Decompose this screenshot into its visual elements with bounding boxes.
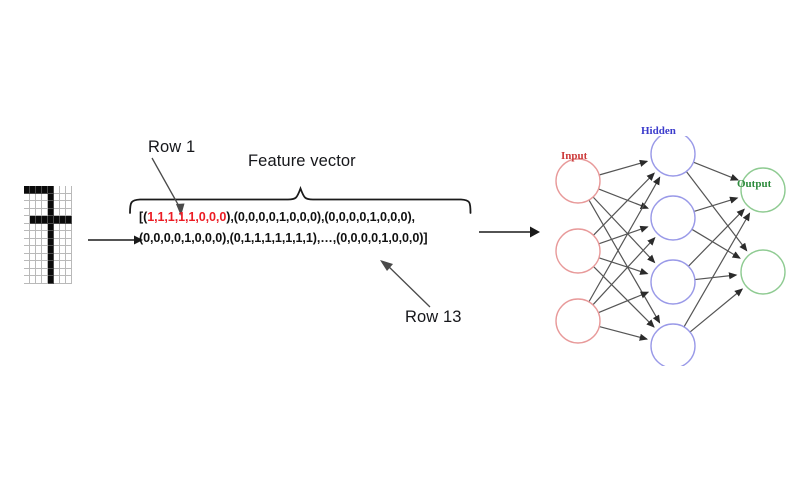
bitmap-cell bbox=[66, 239, 72, 247]
bitmap-cell bbox=[66, 194, 72, 202]
feature-vector-row1-highlight: 1,1,1,1,1,0,0,0 bbox=[147, 210, 226, 224]
network-node-input bbox=[556, 229, 600, 273]
feature-vector-line-1: [(1,1,1,1,1,0,0,0),(0,0,0,0,1,0,0,0),(0,… bbox=[139, 207, 469, 228]
network-edge bbox=[693, 162, 738, 180]
bitmap-cell bbox=[66, 186, 72, 194]
network-node-hidden bbox=[651, 324, 695, 366]
feature-vector-text: [(1,1,1,1,1,0,0,0),(0,0,0,0,1,0,0,0),(0,… bbox=[139, 207, 469, 249]
bitmap-cell bbox=[66, 269, 72, 277]
arrow-vector-to-network bbox=[479, 220, 541, 244]
network-edge bbox=[589, 177, 660, 301]
bitmap-cell bbox=[66, 224, 72, 232]
network-edge bbox=[598, 292, 648, 312]
network-node-hidden bbox=[651, 196, 695, 240]
network-node-hidden bbox=[651, 260, 695, 304]
network-edge bbox=[589, 200, 660, 323]
network-input-label: Input bbox=[561, 150, 587, 162]
network-node-output bbox=[741, 168, 785, 212]
neural-network-diagram bbox=[548, 136, 798, 366]
network-edge bbox=[593, 238, 655, 305]
network-hidden-label: Hidden bbox=[641, 125, 676, 137]
network-edge bbox=[695, 275, 736, 280]
character-bitmap-grid bbox=[24, 186, 72, 284]
bitmap-cell bbox=[66, 209, 72, 217]
label-row-1: Row 1 bbox=[148, 138, 195, 157]
network-edge bbox=[690, 289, 742, 332]
bitmap-cell bbox=[66, 201, 72, 209]
label-feature-vector: Feature vector bbox=[248, 152, 356, 171]
feature-vector-open-bracket: [( bbox=[139, 210, 147, 224]
figure-canvas: Row 1 Feature vector [(1,1,1,1,1,0,0,0),… bbox=[0, 0, 800, 487]
bitmap-cell bbox=[66, 254, 72, 262]
bitmap-cell bbox=[66, 246, 72, 254]
network-edge bbox=[599, 327, 647, 340]
label-row-13: Row 13 bbox=[405, 308, 462, 327]
network-node-output bbox=[741, 250, 785, 294]
network-output-label: Output bbox=[737, 178, 771, 190]
bitmap-cell bbox=[66, 261, 72, 269]
network-node-input bbox=[556, 159, 600, 203]
network-edge bbox=[599, 161, 647, 175]
network-node-hidden bbox=[651, 136, 695, 176]
arrow-bitmap-to-vector bbox=[88, 228, 144, 252]
bitmap-cell bbox=[66, 216, 72, 224]
arrow-row-13 bbox=[378, 258, 434, 310]
bitmap-cell bbox=[66, 276, 72, 284]
network-node-input bbox=[556, 299, 600, 343]
feature-vector-line-2: (0,0,0,0,1,0,0,0),(0,1,1,1,1,1,1,1),…,(0… bbox=[139, 228, 469, 249]
feature-vector-line1-rest: ),(0,0,0,0,1,0,0,0),(0,0,0,0,1,0,0,0), bbox=[226, 210, 415, 224]
bitmap-cell bbox=[66, 231, 72, 239]
